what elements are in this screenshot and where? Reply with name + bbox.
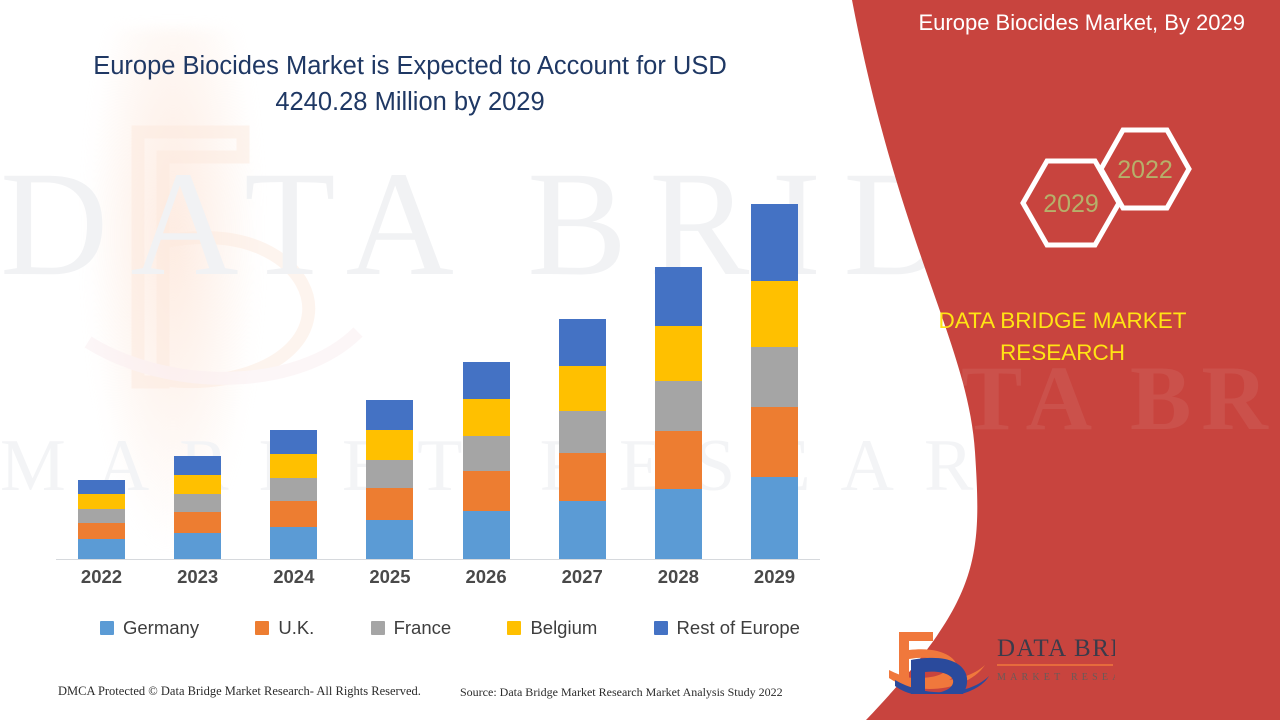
bar-column-2029 [751,204,798,559]
legend-swatch-icon [654,621,668,635]
bar-segment-u-k [751,407,798,477]
bar-segment-rest-of-europe [463,362,510,399]
bar-column-2024 [270,430,317,559]
legend-swatch-icon [100,621,114,635]
x-axis-label-2029: 2029 [737,566,812,594]
x-axis-label-2026: 2026 [449,566,524,594]
legend-item-france[interactable]: France [371,617,452,639]
bar-segment-france [559,411,606,453]
legend-swatch-icon [507,621,521,635]
bar-segment-france [655,381,702,431]
bar-segment-germany [559,501,606,559]
bar-segment-rest-of-europe [559,319,606,366]
bar-segment-germany [174,533,221,559]
x-axis-label-2024: 2024 [256,566,331,594]
bar-segment-belgium [751,281,798,347]
bar-column-2026 [463,362,510,559]
x-axis-label-2027: 2027 [545,566,620,594]
infographic-canvas: DATA BRIDGE MARKET RESEARCH Europe Bioci… [0,0,1280,720]
hexagon-2029-label: 2029 [1043,190,1099,218]
bar-segment-u-k [78,523,125,539]
bar-segment-u-k [655,431,702,489]
footer-source: Source: Data Bridge Market Research Mark… [460,685,783,700]
legend-label: Belgium [530,617,597,639]
brand-name: DATA BRIDGE MARKET RESEARCH [845,305,1280,369]
x-axis-label-2022: 2022 [64,566,139,594]
chart-legend: GermanyU.K.FranceBelgiumRest of Europe [100,614,800,642]
bar-segment-u-k [559,453,606,501]
bar-segment-u-k [366,488,413,520]
brand-line-1: DATA BRIDGE MARKET [939,308,1187,333]
hexagon-2022-label: 2022 [1117,156,1173,184]
bar-segment-belgium [655,326,702,381]
bar-segment-rest-of-europe [174,456,221,475]
bar-segment-germany [655,489,702,559]
x-axis-labels: 20222023202420252026202720282029 [56,566,820,594]
hexagon-badges: 2029 2022 [995,125,1205,270]
brand-line-2: RESEARCH [1000,340,1125,365]
bar-segment-belgium [366,430,413,460]
bar-segment-rest-of-europe [655,267,702,326]
bar-segment-rest-of-europe [751,204,798,281]
bar-column-2028 [655,267,702,559]
bar-segment-rest-of-europe [270,430,317,454]
bar-column-2022 [78,480,125,559]
legend-label: Rest of Europe [677,617,800,639]
bar-segment-rest-of-europe [366,400,413,430]
x-axis-label-2028: 2028 [641,566,716,594]
x-axis-line [56,559,820,560]
bar-segment-belgium [174,475,221,494]
bar-segment-germany [366,520,413,559]
bar-segment-u-k [270,501,317,527]
page-title: Europe Biocides Market is Expected to Ac… [60,48,760,120]
legend-label: Germany [123,617,199,639]
bar-segment-rest-of-europe [78,480,125,494]
legend-item-rest-of-europe[interactable]: Rest of Europe [654,617,800,639]
legend-item-belgium[interactable]: Belgium [507,617,597,639]
footer-copyright: DMCA Protected © Data Bridge Market Rese… [58,684,421,699]
bar-segment-belgium [463,399,510,436]
bar-segment-belgium [559,366,606,411]
x-axis-label-2025: 2025 [352,566,427,594]
bar-segment-germany [751,477,798,559]
bar-segment-belgium [78,494,125,509]
bar-segment-france [751,347,798,407]
bar-segment-germany [270,527,317,559]
data-bridge-logo: DATA BRIDGE MARKET RESEARCH [885,620,1115,694]
bar-segment-france [78,509,125,523]
bar-segment-france [366,460,413,488]
legend-label: France [394,617,452,639]
bar-segment-france [174,494,221,512]
legend-item-u-k[interactable]: U.K. [255,617,314,639]
logo-subtitle: MARKET RESEARCH [997,672,1115,683]
stacked-bar-chart [56,150,820,560]
legend-swatch-icon [371,621,385,635]
red-panel-content: DATA BRIDGE Europe Biocides Market, By 2… [845,0,1280,720]
bar-segment-germany [78,539,125,559]
bar-column-2023 [174,456,221,559]
chart-bars [56,150,820,559]
bar-segment-germany [463,511,510,559]
panel-title: Europe Biocides Market, By 2029 [915,6,1245,39]
bar-segment-u-k [463,471,510,511]
bar-segment-france [463,436,510,471]
bar-column-2025 [366,400,413,559]
legend-item-germany[interactable]: Germany [100,617,199,639]
bar-segment-u-k [174,512,221,533]
bar-segment-france [270,478,317,501]
bar-column-2027 [559,319,606,559]
x-axis-label-2023: 2023 [160,566,235,594]
bar-segment-belgium [270,454,317,478]
legend-swatch-icon [255,621,269,635]
logo-title: DATA BRIDGE [997,635,1115,662]
legend-label: U.K. [278,617,314,639]
